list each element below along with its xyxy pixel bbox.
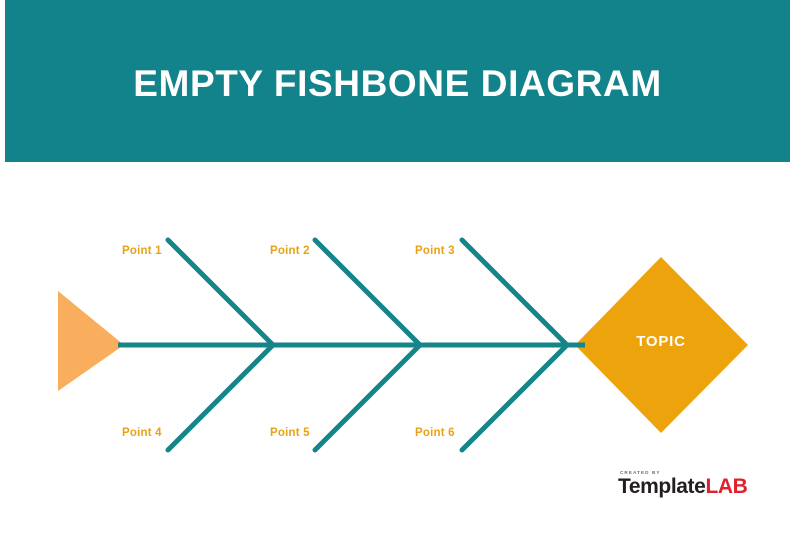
header-banner: EMPTY FISHBONE DIAGRAM — [5, 0, 790, 162]
bone-point-3 — [462, 240, 567, 345]
logo-wordmark: TemplateLAB — [618, 476, 758, 498]
bone-point-6 — [462, 345, 567, 450]
bone-point-5 — [315, 345, 420, 450]
bone-point-4 — [168, 345, 273, 450]
point-label-6[interactable]: Point 6 — [415, 427, 455, 439]
page-root: EMPTY FISHBONE DIAGRAM TOPIC Point 1 Poi… — [0, 0, 790, 558]
point-label-1[interactable]: Point 1 — [122, 245, 162, 257]
point-label-2[interactable]: Point 2 — [270, 245, 310, 257]
templatelab-logo: CREATED BY TemplateLAB — [618, 470, 758, 498]
point-label-4[interactable]: Point 4 — [122, 427, 162, 439]
fish-tail-shape — [58, 291, 124, 391]
bone-point-2 — [315, 240, 420, 345]
fishbone-diagram: TOPIC Point 1 Point 2 Point 3 Point 4 Po… — [0, 162, 790, 558]
logo-lab-text: LAB — [705, 475, 747, 498]
point-label-3[interactable]: Point 3 — [415, 245, 455, 257]
page-title: EMPTY FISHBONE DIAGRAM — [5, 62, 790, 106]
logo-template-text: Template — [618, 475, 705, 498]
bone-point-1 — [168, 240, 273, 345]
topic-label[interactable]: TOPIC — [601, 333, 721, 350]
point-label-5[interactable]: Point 5 — [270, 427, 310, 439]
